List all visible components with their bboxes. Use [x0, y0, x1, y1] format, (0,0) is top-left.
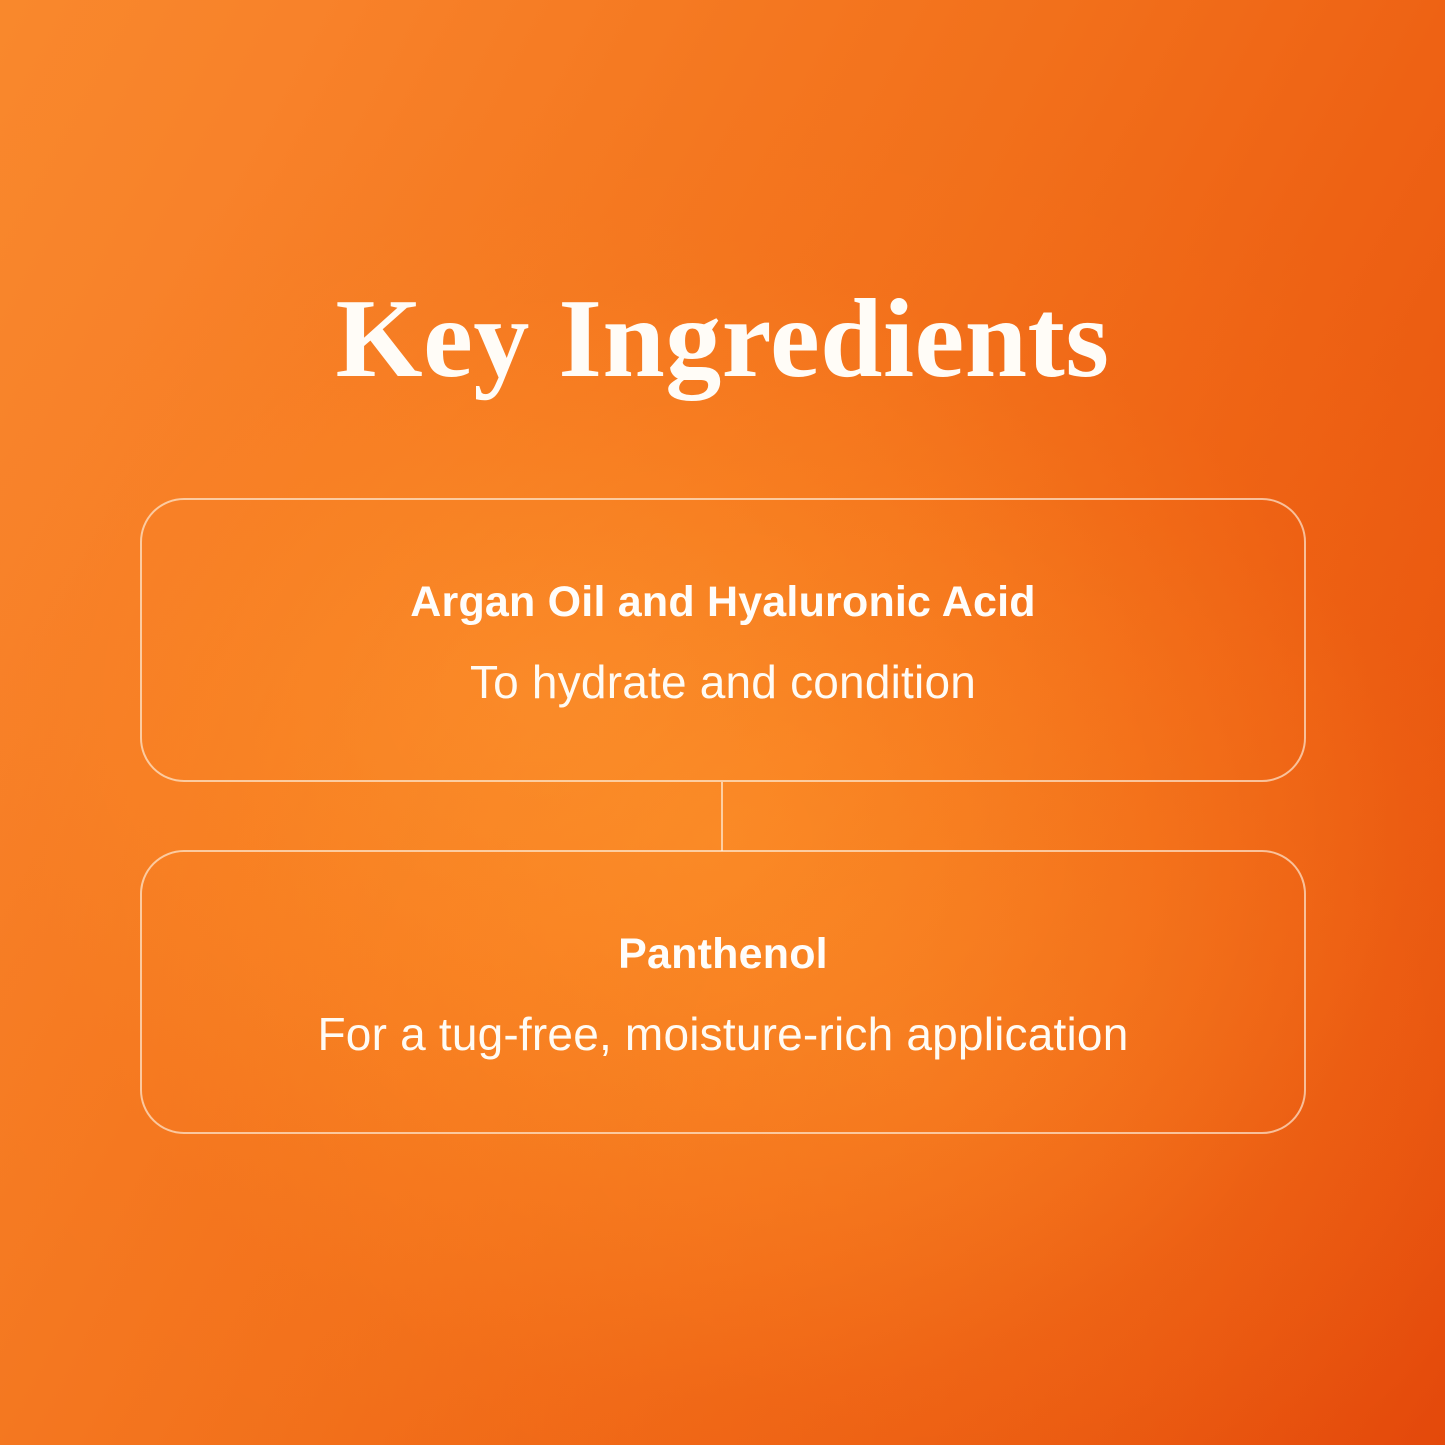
key-ingredients-poster: Key Ingredients Argan Oil and Hyaluronic…	[0, 0, 1445, 1445]
ingredient-card-1-subtext: To hydrate and condition	[470, 655, 976, 709]
ingredient-card-2: Panthenol For a tug-free, moisture-rich …	[140, 850, 1306, 1134]
ingredient-card-2-subtext: For a tug-free, moisture-rich applicatio…	[318, 1007, 1129, 1061]
ingredient-card-1: Argan Oil and Hyaluronic Acid To hydrate…	[140, 498, 1306, 782]
page-title: Key Ingredients	[0, 283, 1445, 395]
ingredient-card-2-heading: Panthenol	[618, 930, 828, 979]
vertical-connector-line	[721, 782, 723, 851]
ingredient-card-1-heading: Argan Oil and Hyaluronic Acid	[410, 578, 1035, 627]
